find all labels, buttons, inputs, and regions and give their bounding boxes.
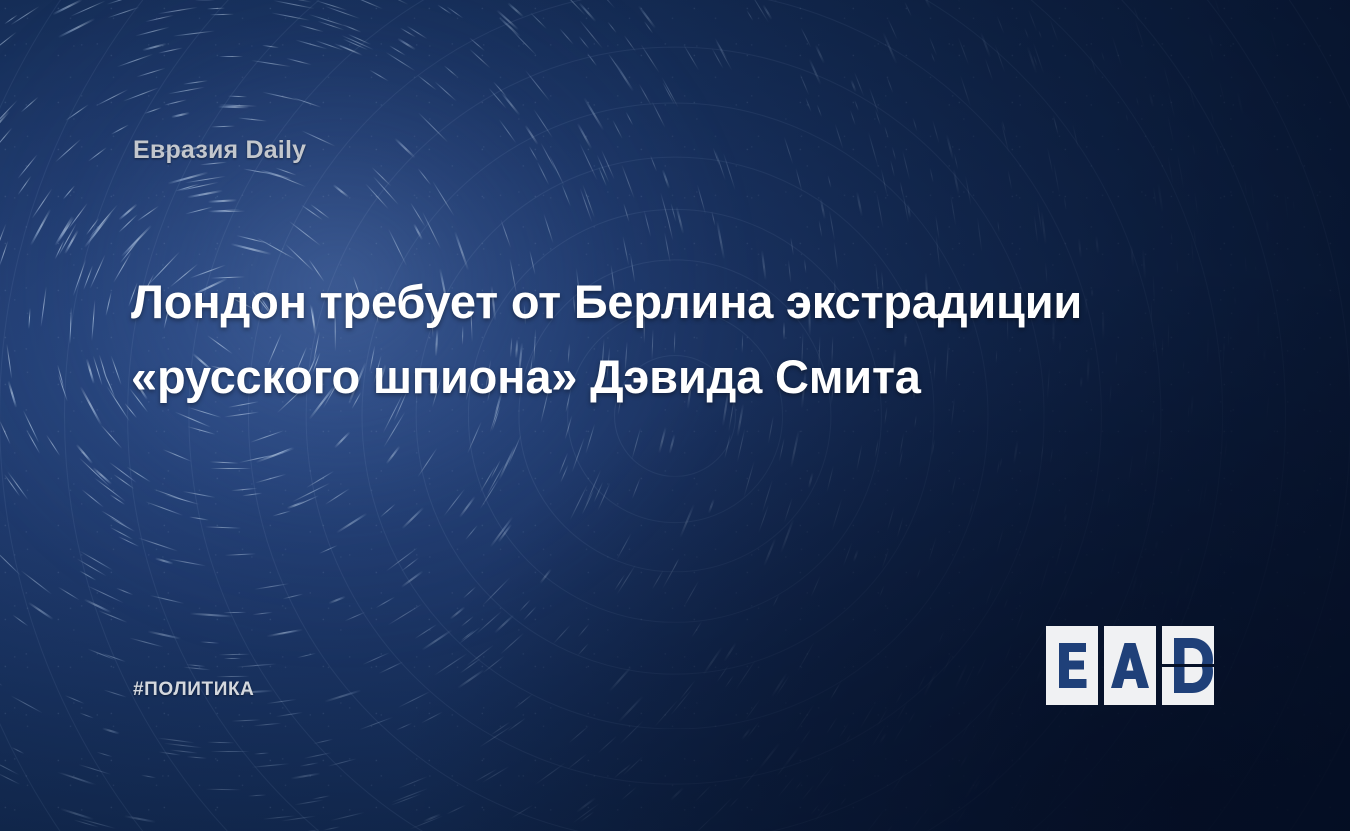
logo-letter-d-split-icon [1162,626,1220,705]
ead-logo [1046,626,1220,705]
logo-d-top-half [1162,626,1214,664]
logo-letter-a-icon [1104,626,1156,705]
category-tag: #ПОЛИТИКА [133,679,255,701]
brand-name: Евразия Daily [133,136,306,165]
logo-d-bottom-half [1162,667,1214,705]
headline: Лондон требует от Берлина экстрадиции «р… [131,264,1236,414]
card-content: Евразия Daily Лондон требует от Берлина … [0,0,1350,831]
logo-letter-e-icon [1046,626,1098,705]
news-share-card: Евразия Daily Лондон требует от Берлина … [0,0,1350,831]
